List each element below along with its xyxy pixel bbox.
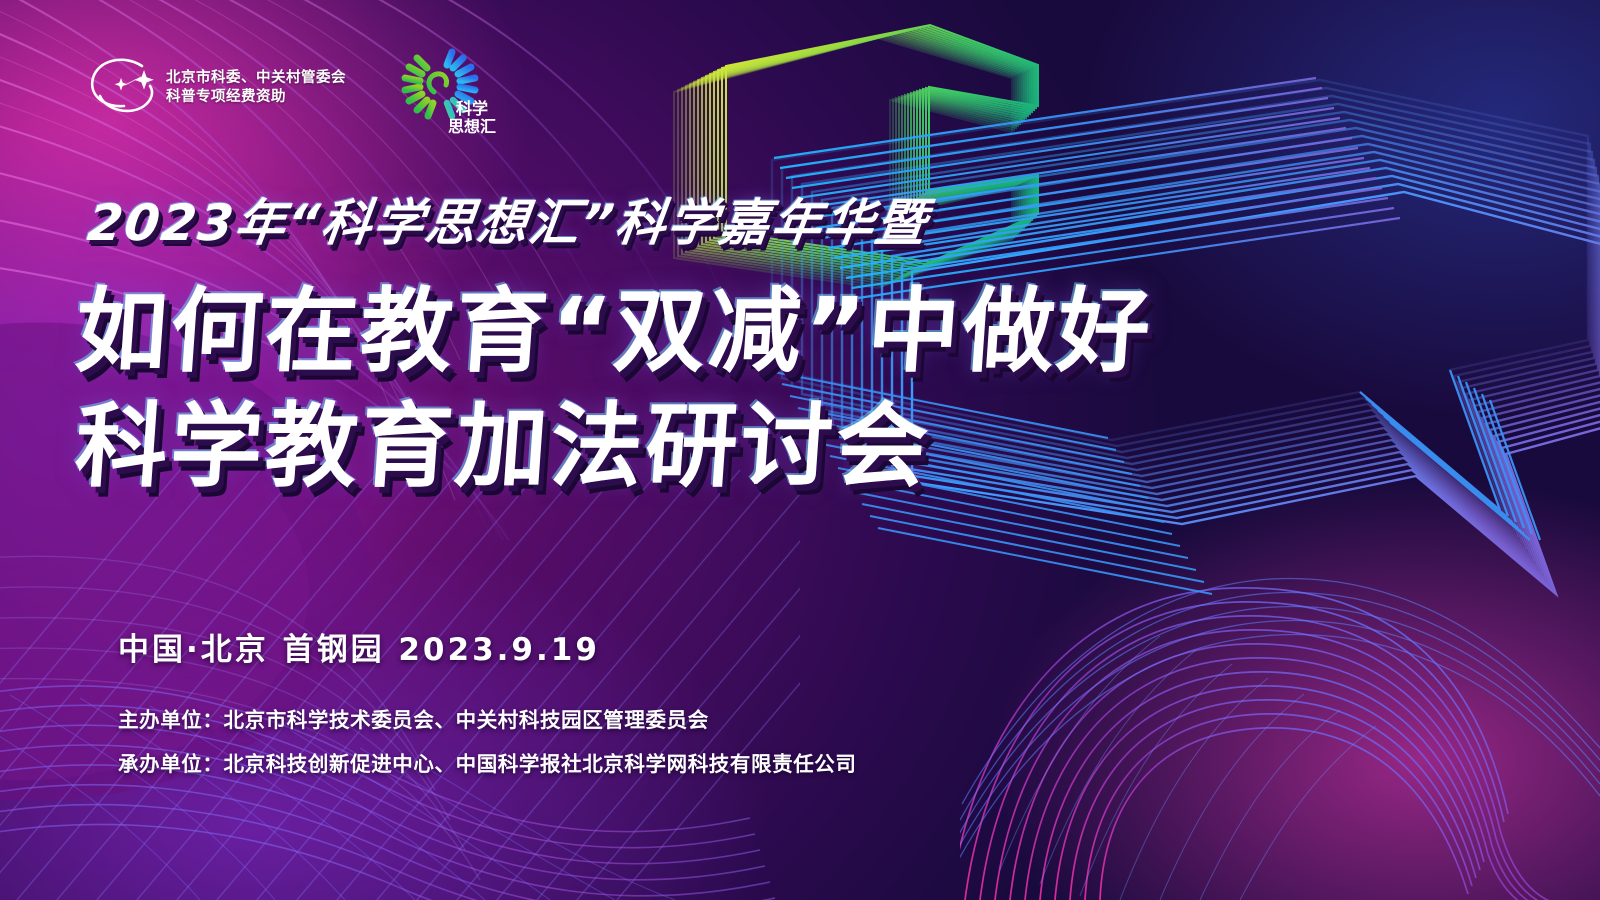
logo-row: 北京市科委、中关村管委会 科普专项经费资助 xyxy=(84,40,496,136)
sponsor-logo: 北京市科委、中关村管委会 科普专项经费资助 xyxy=(84,52,346,124)
organizer-host: 主办单位：北京市科学技术委员会、中关村科技园区管理委员会 xyxy=(118,710,857,731)
event-headline: 如何在教育“双减”中做好 科学教育加法研讨会 xyxy=(72,280,1149,498)
headline-line-1: 如何在教育“双减”中做好 xyxy=(72,280,1156,383)
poster-canvas: 北京市科委、中关村管委会 科普专项经费资助 xyxy=(0,0,1600,900)
headline-line-2: 科学教育加法研讨会 xyxy=(72,395,1156,498)
sponsor-logo-text: 北京市科委、中关村管委会 科普专项经费资助 xyxy=(166,69,346,107)
sponsor-logo-line2: 科普专项经费资助 xyxy=(166,88,346,107)
brand-logo-line1: 科学 xyxy=(456,99,488,118)
event-subtitle: 2023年“科学思想汇”科学嘉年华暨 xyxy=(84,183,932,255)
poster-content: 北京市科委、中关村管委会 科普专项经费资助 xyxy=(0,0,1600,900)
brand-logo: 科学 思想汇 xyxy=(392,40,496,136)
brand-logo-line2: 思想汇 xyxy=(448,117,496,136)
organizer-block: 主办单位：北京市科学技术委员会、中关村科技园区管理委员会 承办单位：北京科技创新… xyxy=(118,710,857,774)
swoosh-star-icon xyxy=(84,52,162,124)
organizer-coorganizer: 承办单位：北京科技创新促进中心、中国科学报社北京科学网科技有限责任公司 xyxy=(118,754,857,775)
science-forum-spiral-icon: 科学 思想汇 xyxy=(392,40,496,136)
venue-and-date: 中国·北京 首钢园 2023.9.19 xyxy=(118,624,600,669)
sponsor-logo-line1: 北京市科委、中关村管委会 xyxy=(166,69,346,88)
